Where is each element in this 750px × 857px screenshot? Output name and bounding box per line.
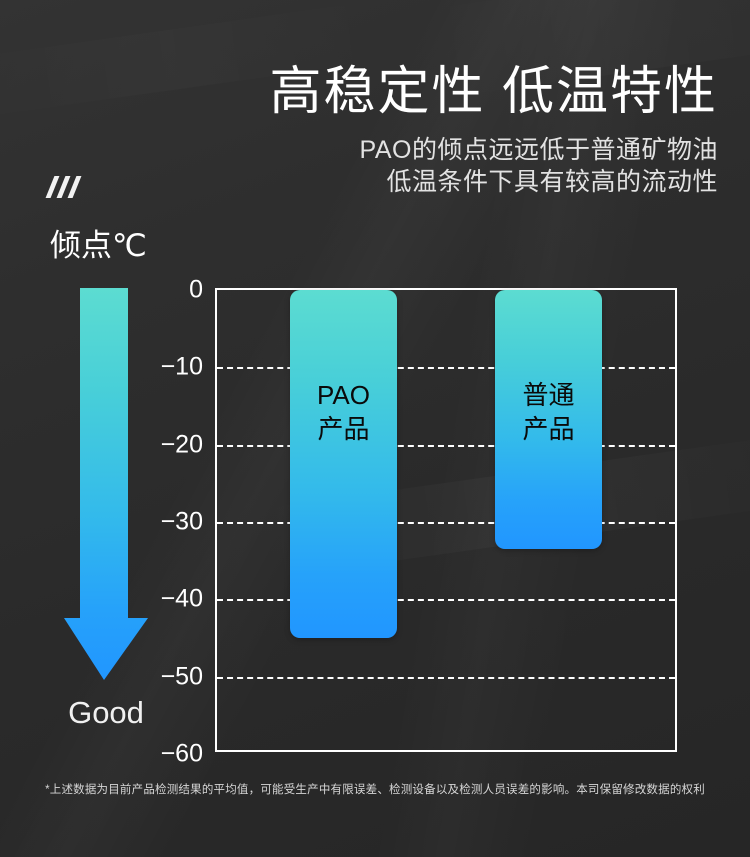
- down-arrow-icon: [62, 288, 150, 680]
- page-subtitle: PAO的倾点远远低于普通矿物油 低温条件下具有较高的流动性: [158, 134, 718, 198]
- three-slashes-icon: [50, 176, 77, 198]
- y-tick-label: −60: [161, 742, 203, 767]
- y-tick-label: −20: [161, 432, 203, 457]
- subtitle-line-2: 低温条件下具有较高的流动性: [158, 166, 718, 198]
- y-axis-title: 倾点℃: [50, 228, 147, 264]
- gridline-minus10: [217, 367, 675, 369]
- bar-pao[interactable]: PAO 产品: [290, 290, 397, 638]
- bar-label-line-2: 产品: [522, 412, 574, 446]
- y-tick-label: −40: [161, 587, 203, 612]
- heading-block: 高稳定性 低温特性 PAO的倾点远远低于普通矿物油 低温条件下具有较高的流动性: [158, 62, 718, 198]
- page-title: 高稳定性 低温特性: [158, 62, 718, 122]
- gridline-minus50: [217, 677, 675, 679]
- gridline-minus30: [217, 522, 675, 524]
- gridline-minus40: [217, 599, 675, 601]
- bar-chart: 0 −10 −20 −30 −40 −50 −60 PAO 产品: [215, 288, 677, 752]
- bar-label-line-2: 产品: [317, 412, 369, 446]
- poster-page: 高稳定性 低温特性 PAO的倾点远远低于普通矿物油 低温条件下具有较高的流动性 …: [0, 0, 750, 857]
- y-tick-label: −50: [161, 664, 203, 689]
- bar-label-line-1: PAO: [317, 378, 370, 412]
- y-tick-label: −30: [161, 510, 203, 535]
- bar-label-line-1: 普通: [522, 378, 574, 412]
- gridline-minus20: [217, 445, 675, 447]
- bar-ordinary[interactable]: 普通 产品: [495, 290, 602, 549]
- y-tick-label: 0: [189, 278, 203, 303]
- good-direction-label: Good: [40, 694, 172, 732]
- subtitle-line-1: PAO的倾点远远低于普通矿物油: [158, 134, 718, 166]
- slash-mark: [68, 176, 82, 198]
- y-tick-label: −10: [161, 355, 203, 380]
- footnote-text: *上述数据为目前产品检测结果的平均值，可能受生产中有限误差、检测设备以及检测人员…: [0, 782, 750, 798]
